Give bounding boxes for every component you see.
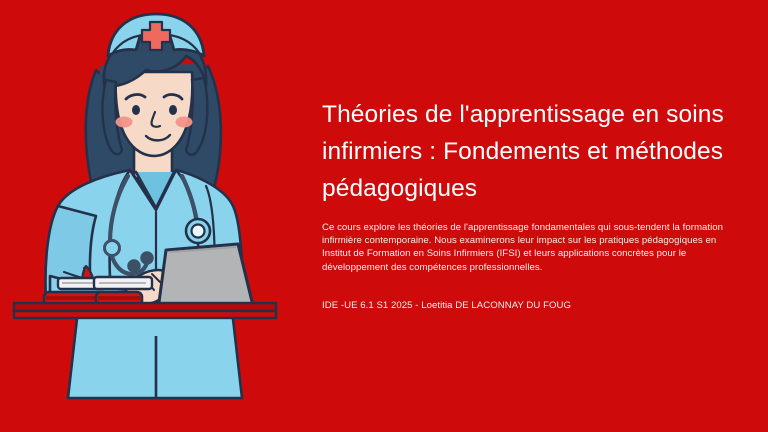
- book-stack: [44, 277, 152, 306]
- slide-description: Ce cours explore les théories de l'appre…: [322, 221, 734, 274]
- slide-title: Théories de l'apprentissage en soins inf…: [322, 96, 742, 207]
- presentation-slide: Théories de l'apprentissage en soins inf…: [0, 0, 768, 432]
- nurse-skirt: [68, 310, 242, 398]
- slide-text-column: Théories de l'apprentissage en soins inf…: [322, 96, 742, 312]
- nurse-illustration: [0, 0, 310, 432]
- slide-footer-credits: IDE -UE 6.1 S1 2025 - Loetitia DE LACONN…: [322, 299, 742, 312]
- desk: [14, 303, 276, 318]
- stethoscope-chestpiece: [186, 219, 210, 243]
